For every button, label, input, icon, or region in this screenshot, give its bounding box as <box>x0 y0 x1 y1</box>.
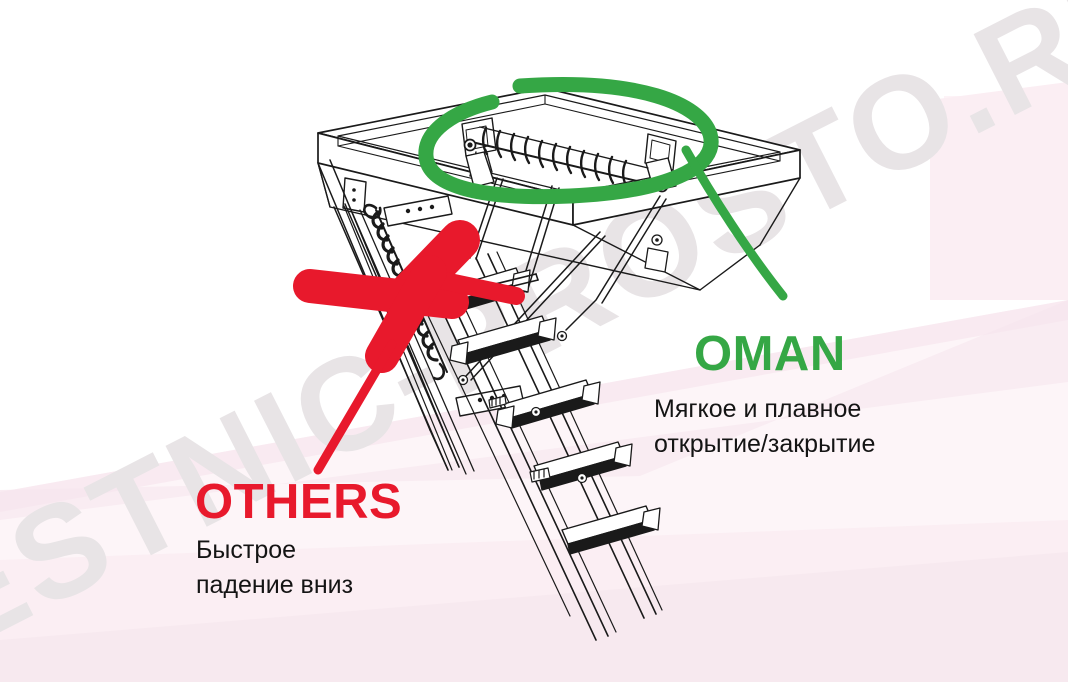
callout-text-layer: OMAN Мягкое и плавное открытие/закрытие … <box>0 0 1068 682</box>
others-subtitle: Быстрое падение вниз <box>196 533 353 602</box>
others-heading: OTHERS <box>195 478 402 527</box>
oman-subtitle: Мягкое и плавное открытие/закрытие <box>654 392 875 461</box>
oman-heading: OMAN <box>694 330 846 379</box>
infographic-canvas: LESTNIC-PROSTO.RU <box>0 0 1068 682</box>
